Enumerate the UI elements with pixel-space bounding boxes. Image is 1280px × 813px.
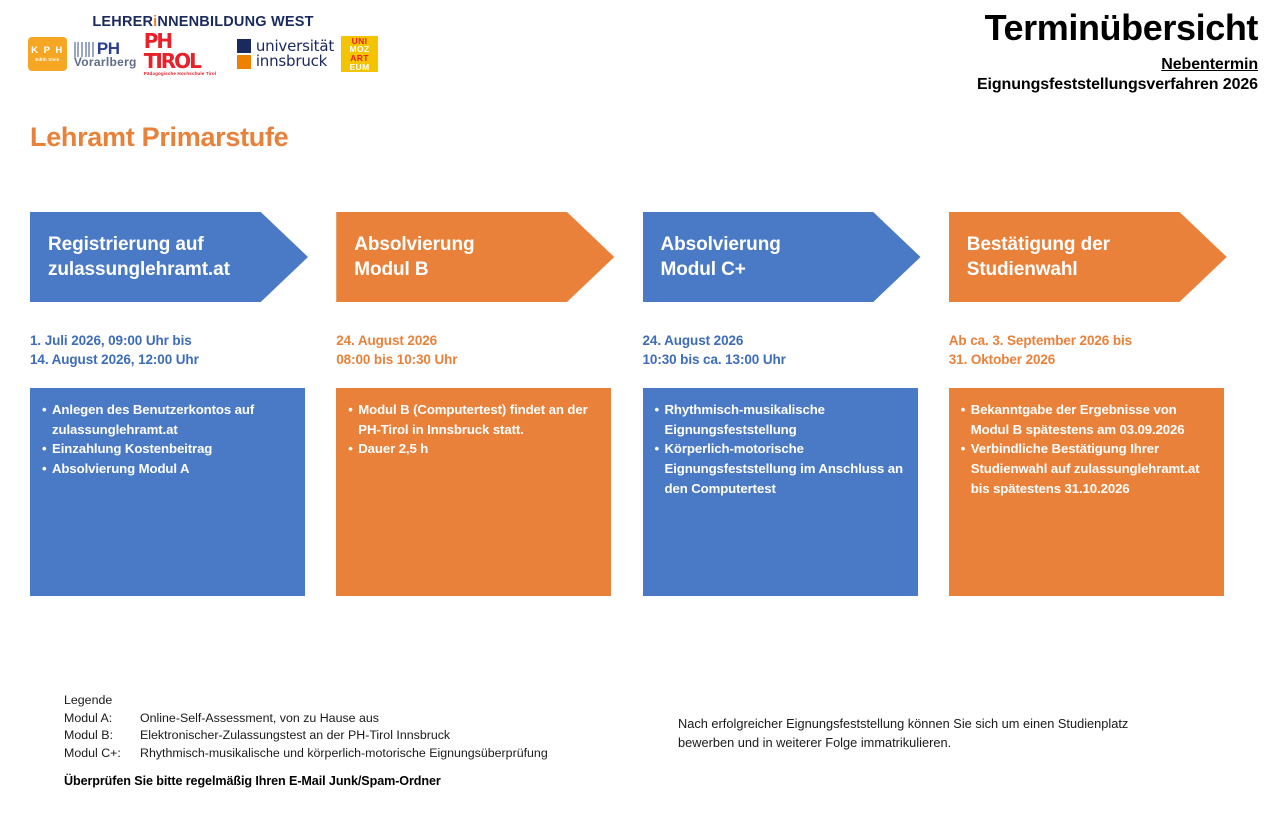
list-item: Verbindliche Bestätigung Ihrer Studienwa…: [961, 439, 1212, 498]
stage-details-box-3: Rhythmisch-musikalische Eignungsfeststel…: [643, 388, 918, 596]
timeline-stage-3: Absolvierung Modul C+ 24. August 2026 10…: [643, 212, 949, 596]
consortium-name-part1: LEHRER: [92, 14, 153, 30]
legend-note: Überprüfen Sie bitte regelmäßig Ihren E-…: [64, 774, 441, 788]
stage-arrow-label-1: Registrierung auf zulassunglehramt.at: [48, 232, 230, 283]
stage-arrow-3: Absolvierung Modul C+: [643, 212, 921, 302]
header-subtitle: Eignungsfeststellungsverfahren 2026: [977, 76, 1258, 94]
legend-table: Modul A: Online-Self-Assessment, von zu …: [64, 710, 548, 763]
legend-key: Modul C+:: [64, 745, 140, 763]
stage-arrow-2: Absolvierung Modul B: [336, 212, 614, 302]
timeline-stage-1: Registrierung auf zulassunglehramt.at 1.…: [30, 212, 336, 596]
stage-details-box-4: Bekanntgabe der Ergebnisse von Modul B s…: [949, 388, 1224, 596]
stage-bullet-list-4: Bekanntgabe der Ergebnisse von Modul B s…: [961, 400, 1212, 499]
legend: Legende Modul A: Online-Self-Assessment,…: [64, 692, 548, 762]
stage-arrow-4: Bestätigung der Studienwahl: [949, 212, 1227, 302]
consortium-name-part2: NNENBILDUNG WEST: [157, 14, 313, 30]
stage-bullet-list-2: Modul B (Computertest) findet an der PH-…: [348, 400, 599, 459]
stage-details-box-2: Modul B (Computertest) findet an der PH-…: [336, 388, 611, 596]
program-title: Lehramt Primarstufe: [30, 122, 288, 153]
timeline: Registrierung auf zulassunglehramt.at 1.…: [30, 212, 1255, 596]
stage-bullet-list-1: Anlegen des Benutzerkontos auf zulassung…: [42, 400, 293, 479]
legend-value: Elektronischer-Zulassungstest an der PH-…: [140, 727, 548, 745]
uibk-squares-icon: [237, 39, 251, 69]
ph-tirol-logo: PH TIROL Pädagogische Hochschule Tirol: [144, 31, 230, 77]
header-logos: LEHRERiNNENBILDUNG WEST K P H Edith Stei…: [28, 14, 378, 71]
ph-vorarlberg-line2: Vorarlberg: [74, 56, 137, 68]
list-item: Anlegen des Benutzerkontos auf zulassung…: [42, 400, 293, 440]
list-item: Einzahlung Kostenbeitrag: [42, 439, 293, 459]
stage-date-1: 1. Juli 2026, 09:00 Uhr bis 14. August 2…: [30, 332, 336, 370]
uibk-wordmark: universität innsbruck: [256, 39, 334, 70]
legend-title: Legende: [64, 692, 548, 710]
list-item: Modul B (Computertest) findet an der PH-…: [348, 400, 599, 440]
kph-logo-line2: Edith Stein: [35, 58, 59, 62]
stage-bullet-list-3: Rhythmisch-musikalische Eignungsfeststel…: [655, 400, 906, 499]
stage-arrow-label-4: Bestätigung der Studienwahl: [967, 232, 1110, 283]
table-row: Modul A: Online-Self-Assessment, von zu …: [64, 710, 548, 728]
ph-vorarlberg-logo: PH Vorarlberg: [74, 40, 137, 68]
uibk-line2: innsbruck: [256, 54, 334, 69]
list-item: Dauer 2,5 h: [348, 439, 599, 459]
ph-tirol-line2: Pädagogische Hochschule Tirol: [144, 72, 230, 77]
kph-logo-line1: K P H: [31, 46, 64, 56]
legend-key: Modul B:: [64, 727, 140, 745]
page-title: Terminübersicht: [977, 8, 1258, 48]
legend-value: Online-Self-Assessment, von zu Hause aus: [140, 710, 548, 728]
stage-date-2: 24. August 2026 08:00 bis 10:30 Uhr: [336, 332, 642, 370]
list-item: Absolvierung Modul A: [42, 459, 293, 479]
universitaet-innsbruck-logo: universität innsbruck: [237, 39, 334, 70]
moz-line4: EUM: [349, 63, 369, 72]
kph-edith-stein-logo: K P H Edith Stein: [28, 37, 67, 71]
table-row: Modul B: Elektronischer-Zulassungstest a…: [64, 727, 548, 745]
stage-arrow-label-3: Absolvierung Modul C+: [661, 232, 781, 283]
legend-value: Rhythmisch-musikalische und körperlich-m…: [140, 745, 548, 763]
stage-arrow-label-2: Absolvierung Modul B: [354, 232, 474, 283]
stage-arrow-1: Registrierung auf zulassunglehramt.at: [30, 212, 308, 302]
list-item: Körperlich-motorische Eignungsfeststellu…: [655, 439, 906, 498]
ph-tirol-line1: PH TIROL: [144, 31, 230, 71]
list-item: Bekanntgabe der Ergebnisse von Modul B s…: [961, 400, 1212, 440]
table-row: Modul C+: Rhythmisch-musikalische und kö…: [64, 745, 548, 763]
legend-key: Modul A:: [64, 710, 140, 728]
stage-date-4: Ab ca. 3. September 2026 bis 31. Oktober…: [949, 332, 1255, 370]
timeline-stage-4: Bestätigung der Studienwahl Ab ca. 3. Se…: [949, 212, 1255, 596]
mozarteum-logo: UNI MOZ ART EUM: [341, 36, 378, 72]
consortium-name: LEHRERiNNENBILDUNG WEST: [28, 14, 378, 30]
header-subtitle-underlined: Nebentermin: [977, 56, 1258, 74]
stage-date-3: 24. August 2026 10:30 bis ca. 13:00 Uhr: [643, 332, 949, 370]
document-header: Terminübersicht Nebentermin Eignungsfest…: [977, 8, 1258, 94]
logo-row: K P H Edith Stein PH Vorarlberg PH TIROL…: [28, 37, 378, 71]
footer-note: Nach erfolgreicher Eignungsfeststellung …: [678, 714, 1148, 752]
timeline-stage-2: Absolvierung Modul B 24. August 2026 08:…: [336, 212, 642, 596]
list-item: Rhythmisch-musikalische Eignungsfeststel…: [655, 400, 906, 440]
stage-details-box-1: Anlegen des Benutzerkontos auf zulassung…: [30, 388, 305, 596]
